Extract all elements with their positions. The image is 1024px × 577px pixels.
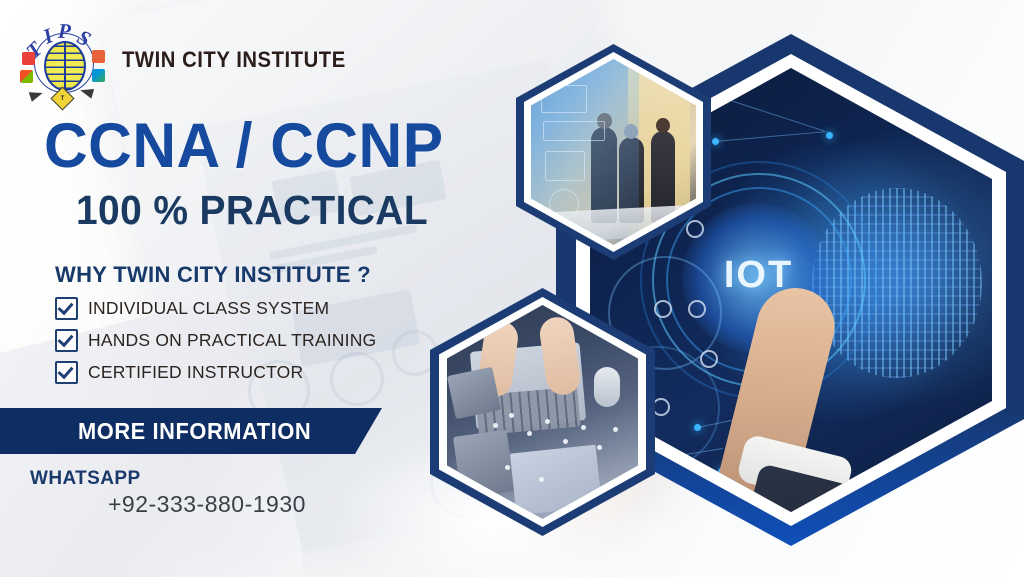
- checkbox-checked-icon: [55, 361, 78, 384]
- windows-icon: [20, 70, 33, 83]
- office-icon: [92, 50, 105, 63]
- promo-poster: IOT: [0, 0, 1024, 577]
- list-item: INDIVIDUAL CLASS SYSTEM: [55, 297, 376, 320]
- airplane-right-icon: [79, 85, 94, 98]
- list-item-label: CERTIFIED INSTRUCTOR: [88, 362, 303, 383]
- whatsapp-label: WHATSAPP: [30, 468, 141, 490]
- benefits-list: INDIVIDUAL CLASS SYSTEM HANDS ON PRACTIC…: [55, 297, 376, 393]
- whatsapp-number[interactable]: +92-333-880-1930: [108, 491, 306, 518]
- page-subtitle: 100 % PRACTICAL: [76, 190, 428, 231]
- more-information-banner[interactable]: MORE INFORMATION: [0, 408, 382, 454]
- why-heading: WHY TWIN CITY INSTITUTE ?: [55, 262, 371, 288]
- more-information-label: MORE INFORMATION: [78, 418, 311, 445]
- list-item: CERTIFIED INSTRUCTOR: [55, 361, 376, 384]
- autodesk-icon: [92, 69, 105, 82]
- adobe-icon: [22, 52, 35, 65]
- globe-logo-icon: [44, 41, 86, 91]
- list-item: HANDS ON PRACTICAL TRAINING: [55, 329, 376, 352]
- checkbox-checked-icon: [55, 329, 78, 352]
- brand-header: T I P S T TWIN CITY INSTITUTE: [14, 14, 365, 106]
- page-title: CCNA / CCNP: [44, 116, 444, 178]
- brand-name: TWIN CITY INSTITUTE: [122, 47, 346, 73]
- checkbox-checked-icon: [55, 297, 78, 320]
- list-item-label: INDIVIDUAL CLASS SYSTEM: [88, 298, 329, 319]
- tips-logo: T I P S T: [14, 14, 110, 106]
- list-item-label: HANDS ON PRACTICAL TRAINING: [88, 330, 376, 351]
- airplane-left-icon: [29, 88, 44, 102]
